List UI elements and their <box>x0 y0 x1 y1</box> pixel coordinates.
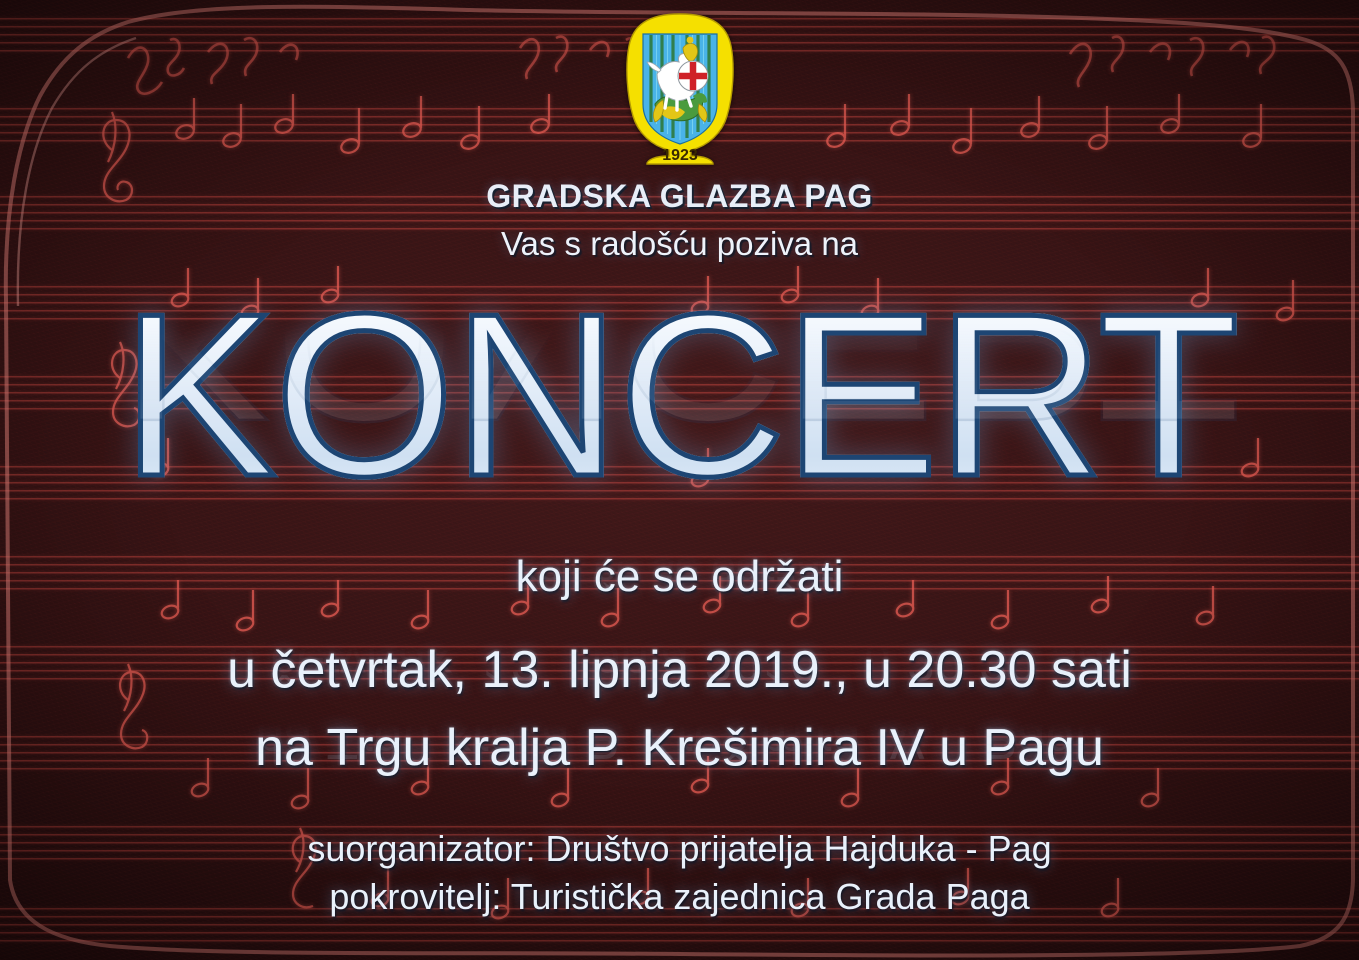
concert-poster: 1923 GRADSKA GLAZBA PAG Vas s radošću po… <box>0 0 1359 960</box>
crest-year: 1923 <box>662 147 698 164</box>
organization-name: GRADSKA GLAZBA PAG <box>0 178 1359 215</box>
venue-line: na Trgu kralja P. Krešimira IV u Pagu na… <box>0 718 1359 830</box>
page-title: KONCERT <box>0 272 1359 520</box>
poster-content: 1923 GRADSKA GLAZBA PAG Vas s radošću po… <box>0 0 1359 960</box>
held-text: koji će se održati <box>516 552 844 601</box>
sponsor-credit: pokrovitelj: Turistička zajednica Grada … <box>0 876 1359 918</box>
venue-text: na Trgu kralja P. Krešimira IV u Pagu <box>255 719 1104 777</box>
main-title-block: KONCERT KONCERT <box>0 272 1359 582</box>
held-line: koji će se održati koji će se održati <box>0 552 1359 646</box>
date-time-text: u četvrtak, 13. lipnja 2019., u 20.30 sa… <box>227 641 1132 699</box>
invitation-line: Vas s radošću poziva na <box>0 225 1359 263</box>
co-organizer-credit: suorganizator: Društvo prijatelja Hajduk… <box>0 828 1359 870</box>
gradska-glazba-pag-lyre-emblem-icon: 1923 <box>607 4 753 170</box>
